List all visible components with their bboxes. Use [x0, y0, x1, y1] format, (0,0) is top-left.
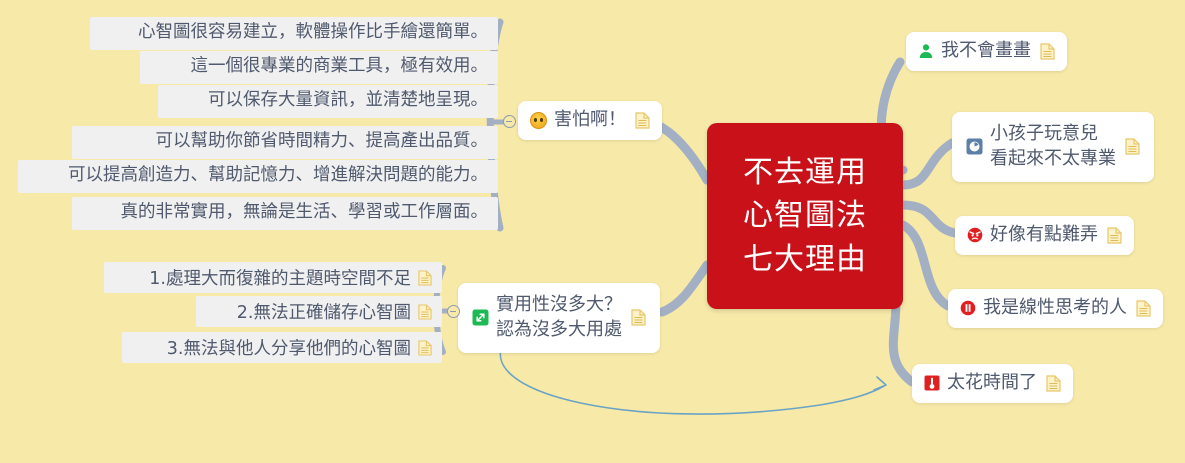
red-angry-face-icon — [967, 227, 983, 243]
list-item-label: 3.無法與他人分享他們的心智圖 — [167, 335, 411, 360]
document-icon[interactable] — [418, 340, 432, 356]
scared-face-emoji-icon — [530, 112, 547, 129]
connector-to-r3 — [903, 205, 955, 233]
connector-to-r2 — [903, 143, 952, 185]
document-icon[interactable] — [1125, 138, 1140, 155]
document-icon[interactable] — [1107, 227, 1122, 244]
list-item-label: 1.處理大而復雜的主題時空間不足 — [149, 265, 411, 290]
red-thermometer-icon — [924, 375, 940, 391]
list-item[interactable]: 可以幫助你節省時間精力、提高產出品質。 — [72, 126, 498, 159]
list-item[interactable]: 這一個很專業的商業工具，極有效用。 — [140, 51, 498, 84]
document-icon[interactable] — [1040, 43, 1055, 60]
branch-node-childish-toy[interactable]: 小孩子玩意兒 看起來不太專業 — [952, 112, 1154, 182]
branch-node-linear-thinker[interactable]: 我是線性思考的人 — [948, 289, 1163, 328]
list-item[interactable]: 3.無法與他人分享他們的心智圖 — [122, 332, 442, 363]
red-pause-circle-icon — [960, 300, 976, 316]
node-label: 我不會畫畫 — [941, 39, 1031, 64]
document-icon[interactable] — [1046, 375, 1061, 392]
node-label: 害怕啊！ — [554, 108, 626, 133]
document-icon[interactable] — [631, 309, 646, 326]
central-line-2: 心智圖法 — [743, 194, 867, 238]
branch-node-seems-hard[interactable]: 好像有點難弄 — [955, 216, 1134, 255]
list-item[interactable]: 1.處理大而復雜的主題時空間不足 — [104, 262, 442, 293]
node-label: 小孩子玩意兒 看起來不太專業 — [990, 122, 1116, 172]
document-icon[interactable] — [1136, 300, 1151, 317]
list-item[interactable]: 心智圖很容易建立，軟體操作比手繪還簡單。 — [90, 17, 498, 50]
green-person-icon — [918, 43, 934, 59]
list-item[interactable]: 可以提高創造力、幫助記憶力、增進解決問題的能力。 — [18, 160, 498, 193]
document-icon[interactable] — [418, 304, 432, 320]
blue-clock-icon — [966, 138, 983, 155]
branch-node-cannot-draw[interactable]: 我不會畫畫 — [906, 32, 1067, 71]
document-icon[interactable] — [418, 270, 432, 286]
node-label: 太花時間了 — [947, 371, 1037, 396]
document-icon[interactable] — [635, 112, 650, 129]
list-item-label: 2.無法正確儲存心智圖 — [237, 299, 411, 324]
list-item[interactable]: 真的非常實用，無論是生活、學習或工作層面。 — [72, 197, 498, 230]
central-line-3: 七大理由 — [743, 238, 867, 282]
collapse-toggle-fear[interactable] — [503, 115, 516, 128]
mindmap-canvas[interactable]: 不去運用 心智圖法 七大理由 我不會畫畫 小孩子玩意兒 看起來不太專業 好像有點… — [0, 0, 1185, 463]
connector-to-r4 — [903, 225, 948, 306]
node-label: 我是線性思考的人 — [983, 296, 1127, 321]
list-item[interactable]: 2.無法正確儲存心智圖 — [196, 296, 442, 327]
collapse-toggle-usefulness[interactable] — [447, 305, 460, 318]
node-label: 好像有點難弄 — [990, 223, 1098, 248]
branch-node-too-time-consuming[interactable]: 太花時間了 — [912, 364, 1073, 403]
green-resize-arrows-icon — [472, 309, 489, 326]
list-item[interactable]: 可以保存大量資訊，並清楚地呈現。 — [158, 85, 498, 118]
node-label: 實用性沒多大？ 認為沒多大用處 — [496, 293, 622, 343]
central-line-1: 不去運用 — [743, 151, 867, 195]
central-topic[interactable]: 不去運用 心智圖法 七大理由 — [707, 123, 903, 309]
connector-to-l2 — [662, 265, 707, 312]
branch-node-not-useful[interactable]: 實用性沒多大？ 認為沒多大用處 — [458, 283, 660, 353]
branch-node-afraid[interactable]: 害怕啊！ — [518, 101, 662, 140]
